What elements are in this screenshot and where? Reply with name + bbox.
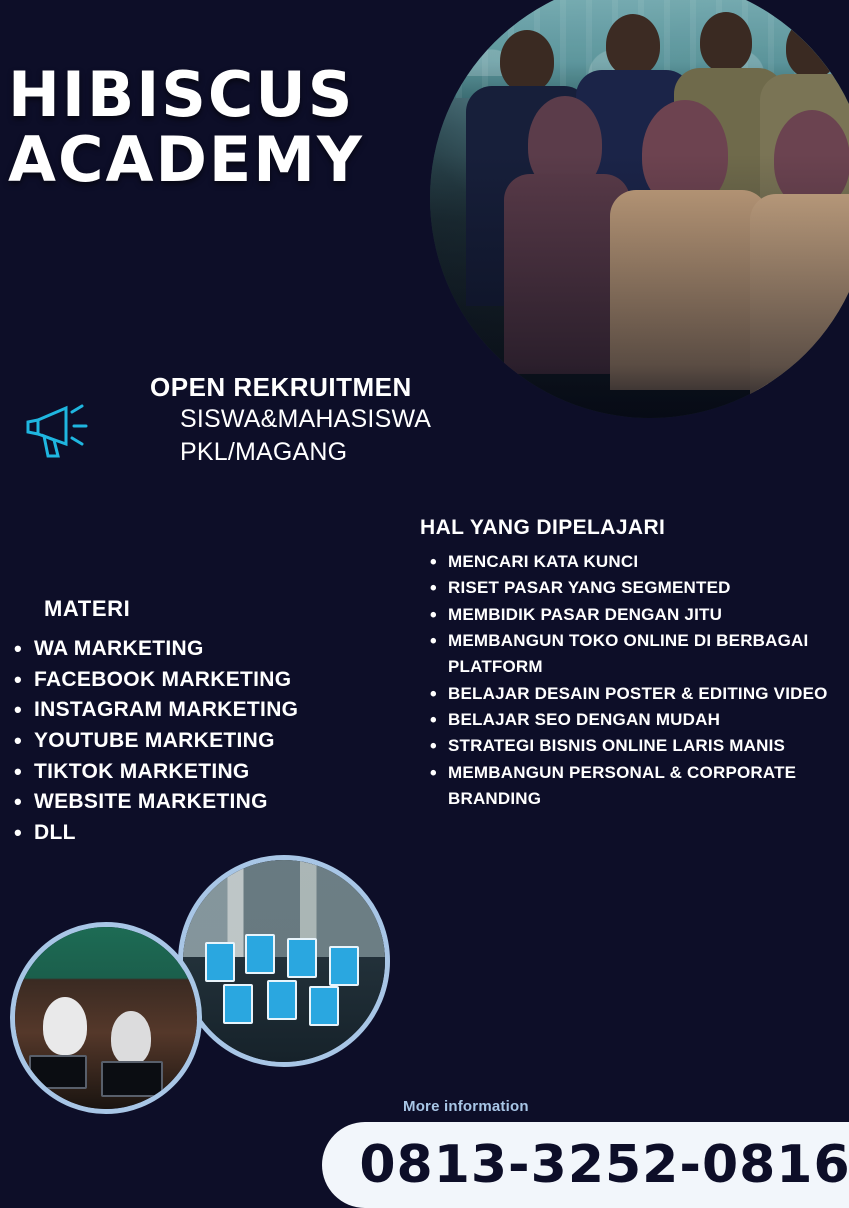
phone-number-pill[interactable]: 0813-3252-0816 — [322, 1122, 849, 1208]
dipelajari-title: HAL YANG DIPELAJARI — [420, 516, 840, 540]
office-photo — [15, 927, 197, 1109]
recruitment-line-1: SISWA&MAHASISWA — [180, 403, 431, 436]
list-item: STRATEGI BISNIS ONLINE LARIS MANIS — [420, 733, 840, 759]
list-item: MEMBANGUN PERSONAL & CORPORATE BRANDING — [420, 760, 840, 813]
phone-number: 0813-3252-0816 — [353, 1135, 849, 1195]
list-item: DLL — [0, 818, 400, 849]
dipelajari-list: MENCARI KATA KUNCI RISET PASAR YANG SEGM… — [420, 549, 840, 812]
class-photo-circle — [178, 855, 390, 1067]
list-item: MEMBANGUN TOKO ONLINE DI BERBAGAI PLATFO… — [420, 628, 840, 681]
laptop — [101, 1061, 163, 1097]
tablet-screen — [309, 986, 339, 1026]
list-item: RISET PASAR YANG SEGMENTED — [420, 575, 840, 601]
list-item: INSTAGRAM MARKETING — [0, 695, 400, 726]
tablet-screen — [223, 984, 253, 1024]
page-title: HIBISCUS ACADEMY — [8, 62, 364, 192]
list-item: BELAJAR DESAIN POSTER & EDITING VIDEO — [420, 681, 840, 707]
person-figure — [43, 997, 87, 1055]
tablet-screen — [245, 934, 275, 974]
person-figure — [111, 1011, 151, 1065]
list-item: FACEBOOK MARKETING — [0, 665, 400, 696]
title-line-1: HIBISCUS — [8, 62, 364, 127]
list-item: WEBSITE MARKETING — [0, 787, 400, 818]
tablet-screen — [287, 938, 317, 978]
materi-section: MATERI WA MARKETING FACEBOOK MARKETING I… — [0, 596, 400, 849]
hero-photo — [430, 0, 849, 418]
hero-photo-circle — [430, 0, 849, 418]
office-photo-circle — [10, 922, 202, 1114]
class-photo — [183, 860, 385, 1062]
hero-photo-overlay — [430, 0, 849, 418]
dipelajari-section: HAL YANG DIPELAJARI MENCARI KATA KUNCI R… — [420, 516, 840, 812]
list-item: MEMBIDIK PASAR DENGAN JITU — [420, 602, 840, 628]
recruitment-block: OPEN REKRUITMEN SISWA&MAHASISWA PKL/MAGA… — [22, 370, 431, 469]
recruitment-line-2: PKL/MAGANG — [180, 436, 431, 469]
list-item: BELAJAR SEO DENGAN MUDAH — [420, 707, 840, 733]
megaphone-icon — [22, 392, 100, 464]
list-item: TIKTOK MARKETING — [0, 757, 400, 788]
tablet-screen — [329, 946, 359, 986]
materi-title: MATERI — [44, 596, 400, 622]
more-information-label: More information — [403, 1098, 529, 1115]
list-item: MENCARI KATA KUNCI — [420, 549, 840, 575]
tablet-screen — [205, 942, 235, 982]
laptop — [29, 1055, 87, 1089]
list-item: YOUTUBE MARKETING — [0, 726, 400, 757]
materi-list: WA MARKETING FACEBOOK MARKETING INSTAGRA… — [0, 634, 400, 849]
tablet-screen — [267, 980, 297, 1020]
list-item: WA MARKETING — [0, 634, 400, 665]
recruitment-heading: OPEN REKRUITMEN — [150, 372, 431, 403]
title-line-2: ACADEMY — [8, 127, 364, 192]
